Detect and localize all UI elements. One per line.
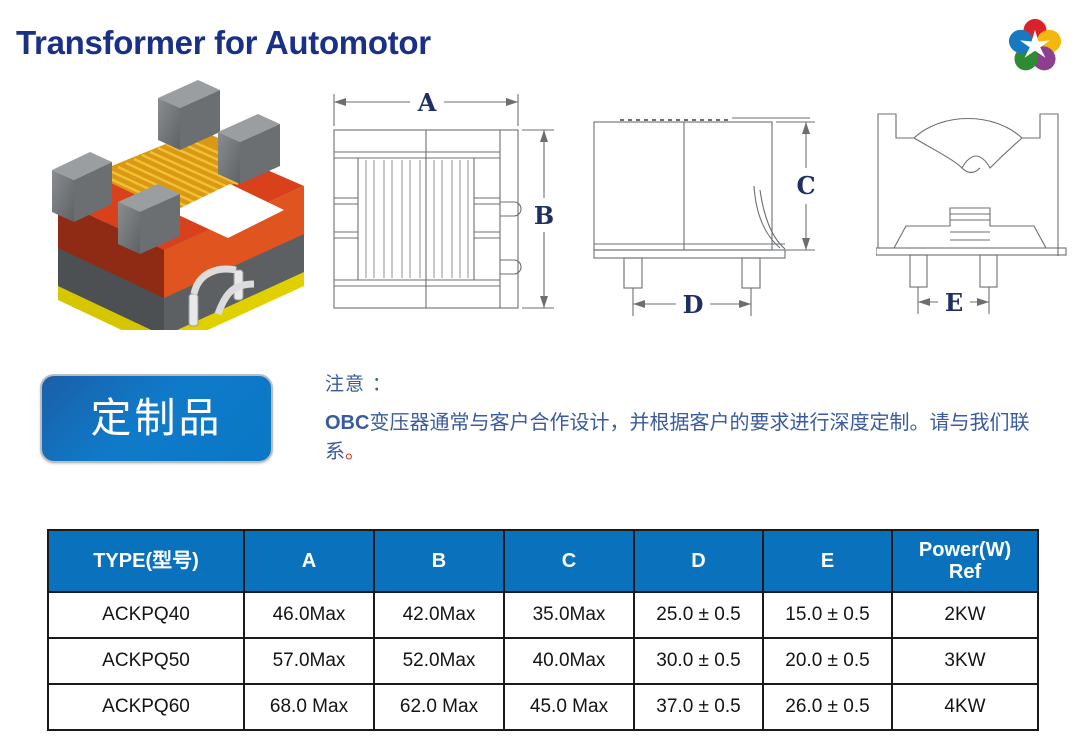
dim-label-a: A xyxy=(417,88,437,117)
cell-b: 52.0Max xyxy=(374,638,504,684)
side-view-drawing: E xyxy=(876,108,1072,323)
cell-c: 40.0Max xyxy=(504,638,634,684)
cell-power: 2KW xyxy=(892,592,1038,638)
notice-block: 注意 ： OBC变压器通常与客户合作设计，并根据客户的要求进行深度定制。请与我们… xyxy=(325,370,1060,465)
cell-e: 15.0 ± 0.5 xyxy=(763,592,892,638)
notice-body-text: 变压器通常与客户合作设计，并根据客户的要求进行深度定制。请与我们联系 xyxy=(325,410,1029,463)
table-row: ACKPQ40 46.0Max 42.0Max 35.0Max 25.0 ± 0… xyxy=(48,592,1038,638)
table-row: ACKPQ60 68.0 Max 62.0 Max 45.0 Max 37.0 … xyxy=(48,684,1038,730)
table-header-row: TYPE(型号) A B C D E Power(W) Ref xyxy=(48,530,1038,592)
cell-c: 35.0Max xyxy=(504,592,634,638)
custom-product-badge[interactable]: 定制品 xyxy=(40,374,273,463)
col-header-a: A xyxy=(244,530,374,592)
dim-label-b: B xyxy=(534,201,554,230)
cell-e: 20.0 ± 0.5 xyxy=(763,638,892,684)
cell-power: 3KW xyxy=(892,638,1038,684)
col-header-power-line1: Power(W) xyxy=(893,539,1037,561)
cell-a: 57.0Max xyxy=(244,638,374,684)
front-view-drawing: C D xyxy=(580,98,845,328)
notice-body: OBC变压器通常与客户合作设计，并根据客户的要求进行深度定制。请与我们联系。 xyxy=(325,408,1060,466)
col-header-b: B xyxy=(374,530,504,592)
notice-body-period: 。 xyxy=(345,439,365,463)
cell-power: 4KW xyxy=(892,684,1038,730)
col-header-power-line2: Ref xyxy=(893,561,1037,583)
col-header-type: TYPE(型号) xyxy=(48,530,244,592)
col-header-e: E xyxy=(763,530,892,592)
notice-body-prefix: OBC xyxy=(325,412,369,434)
figures-row: A B xyxy=(0,62,1080,332)
col-header-power: Power(W) Ref xyxy=(892,530,1038,592)
dim-label-c: C xyxy=(796,171,815,200)
page-title: Transformer for Automotor xyxy=(16,24,431,62)
cell-d: 37.0 ± 0.5 xyxy=(634,684,763,730)
cell-b: 42.0Max xyxy=(374,592,504,638)
top-view-drawing: A B xyxy=(322,80,572,325)
cell-d: 25.0 ± 0.5 xyxy=(634,592,763,638)
table-row: ACKPQ50 57.0Max 52.0Max 40.0Max 30.0 ± 0… xyxy=(48,638,1038,684)
cell-c: 45.0 Max xyxy=(504,684,634,730)
cell-type: ACKPQ60 xyxy=(48,684,244,730)
dim-label-e: E xyxy=(945,288,963,317)
col-header-c: C xyxy=(504,530,634,592)
cell-a: 46.0Max xyxy=(244,592,374,638)
product-3d-render xyxy=(22,62,322,330)
cell-d: 30.0 ± 0.5 xyxy=(634,638,763,684)
dim-label-d: D xyxy=(683,290,704,319)
cell-type: ACKPQ40 xyxy=(48,592,244,638)
spec-table: TYPE(型号) A B C D E Power(W) Ref ACKPQ40 … xyxy=(47,529,1039,731)
cell-type: ACKPQ50 xyxy=(48,638,244,684)
cell-b: 62.0 Max xyxy=(374,684,504,730)
notice-heading: 注意 ： xyxy=(325,370,1060,399)
col-header-d: D xyxy=(634,530,763,592)
custom-product-badge-label: 定制品 xyxy=(91,398,223,439)
cell-e: 26.0 ± 0.5 xyxy=(763,684,892,730)
cell-a: 68.0 Max xyxy=(244,684,374,730)
